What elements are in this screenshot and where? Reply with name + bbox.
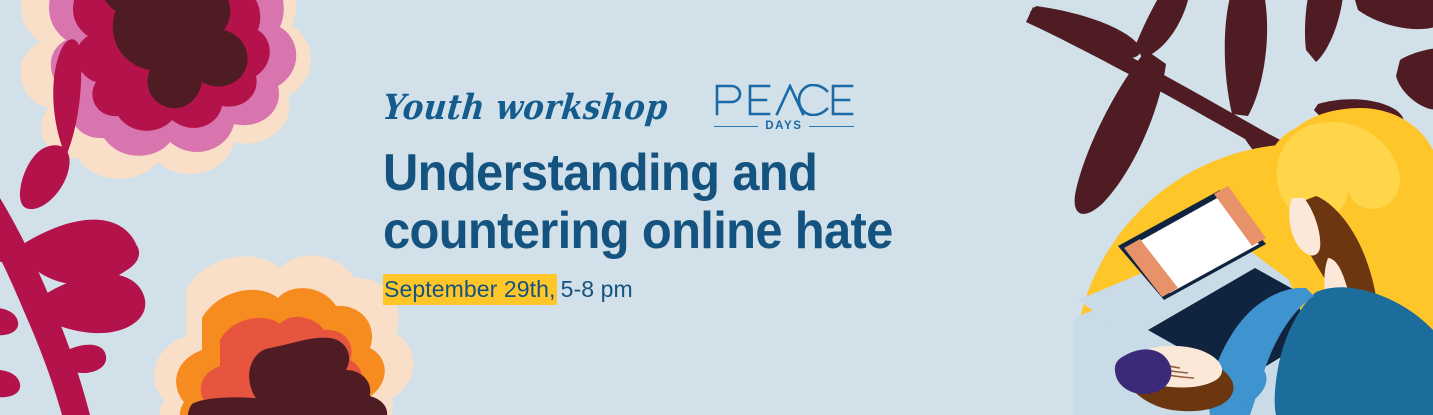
left-fern-branch <box>0 39 145 415</box>
laptop-lid-outline <box>1118 190 1266 300</box>
laptop-screen-edge <box>1124 239 1178 297</box>
days-rule-right <box>809 126 853 128</box>
laptop-base <box>1148 268 1345 382</box>
bottom-left-orange-flower <box>154 255 413 415</box>
eyebrow-row: Youth workshop <box>383 82 1083 134</box>
headline-line-1: Understanding and <box>383 144 817 202</box>
days-rule-left <box>714 126 758 128</box>
event-dateline: September 29th,5-8 pm <box>383 276 1083 303</box>
event-date-highlighted: September 29th, <box>383 274 557 305</box>
days-sublabel-row: DAYS <box>714 121 854 133</box>
hand-fingers <box>1140 358 1194 378</box>
person-at-laptop-illustration <box>1074 108 1433 415</box>
event-banner: Youth workshop <box>0 0 1433 415</box>
peace-letters-icon <box>714 84 854 116</box>
hair-top <box>1277 122 1400 221</box>
event-time: 5-8 pm <box>557 276 633 302</box>
hair-back <box>1262 108 1433 415</box>
days-label: DAYS <box>765 121 802 133</box>
top-left-flower <box>20 0 311 179</box>
eyebrow-script-text: Youth workshop <box>381 88 670 128</box>
hand <box>1125 346 1222 388</box>
small-crimson-petal <box>20 145 70 209</box>
headline-line-2: countering online hate <box>383 202 1041 260</box>
shirt-sleeve <box>1209 288 1314 415</box>
computer-mouse <box>1115 349 1172 394</box>
peace-wordmark <box>714 86 854 116</box>
yellow-circle-backdrop <box>1074 144 1433 415</box>
peace-days-logo: DAYS <box>714 86 854 133</box>
forearm <box>1126 355 1234 411</box>
shirt-torso <box>1275 287 1433 415</box>
ear-highlight <box>1289 198 1320 256</box>
banner-content: Youth workshop <box>383 82 1083 303</box>
page-title: Understanding and countering online hate <box>383 144 1041 260</box>
laptop-lid-edge-right <box>1214 186 1266 246</box>
face-neck <box>1301 196 1379 352</box>
shirt-sleeve-lower <box>1196 362 1267 410</box>
face-highlight <box>1324 258 1360 352</box>
top-right-leaf-branch <box>1026 0 1433 226</box>
desk-surface <box>1074 268 1320 415</box>
laptop-screen <box>1131 197 1259 293</box>
desk-surface-2 <box>1078 236 1316 372</box>
